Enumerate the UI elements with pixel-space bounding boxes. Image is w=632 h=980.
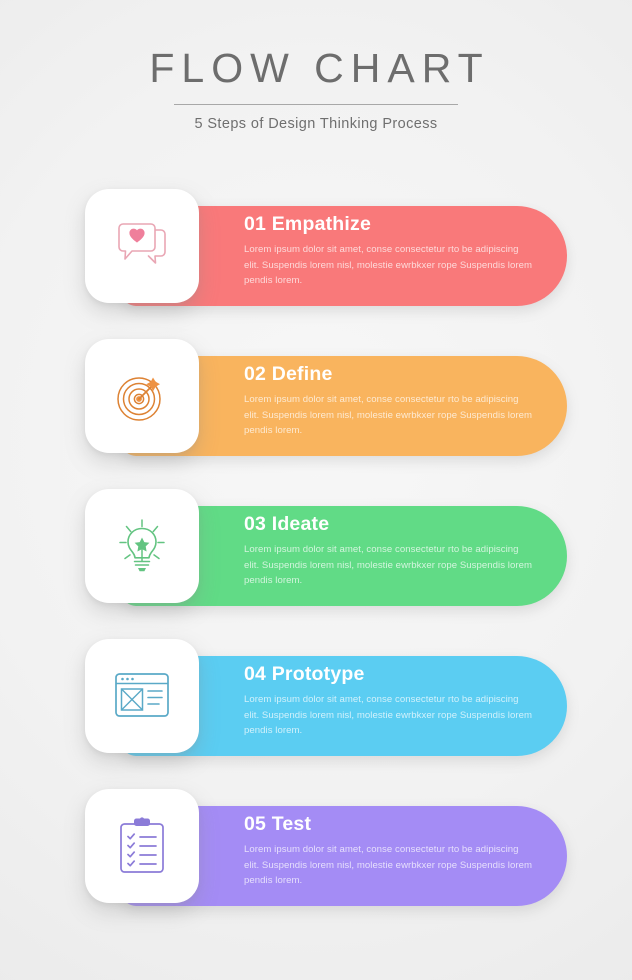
infographic-page: FLOW CHART 5 Steps of Design Thinking Pr…: [0, 0, 632, 980]
step-icon-card-prototype[interactable]: [85, 639, 199, 753]
steps-list: 01 Empathize Lorem ipsum dolor sit amet,…: [0, 0, 632, 980]
step-title: 03 Ideate: [244, 514, 534, 535]
step-row-empathize[interactable]: 01 Empathize Lorem ipsum dolor sit amet,…: [0, 181, 632, 331]
step-row-define[interactable]: 02 Define Lorem ipsum dolor sit amet, co…: [0, 331, 632, 481]
step-title: 02 Define: [244, 364, 534, 385]
step-text-prototype: 04 Prototype Lorem ipsum dolor sit amet,…: [244, 664, 534, 738]
step-description: Lorem ipsum dolor sit amet, conse consec…: [244, 392, 534, 437]
step-row-prototype[interactable]: 04 Prototype Lorem ipsum dolor sit amet,…: [0, 631, 632, 781]
step-icon-card-define[interactable]: [85, 339, 199, 453]
step-icon-card-ideate[interactable]: [85, 489, 199, 603]
step-description: Lorem ipsum dolor sit amet, conse consec…: [244, 542, 534, 587]
step-title: 04 Prototype: [244, 664, 534, 685]
target-dart-icon: [114, 368, 170, 424]
step-row-ideate[interactable]: 03 Ideate Lorem ipsum dolor sit amet, co…: [0, 481, 632, 631]
step-text-empathize: 01 Empathize Lorem ipsum dolor sit amet,…: [244, 214, 534, 288]
step-icon-card-empathize[interactable]: [85, 189, 199, 303]
step-icon-card-test[interactable]: [85, 789, 199, 903]
step-text-test: 05 Test Lorem ipsum dolor sit amet, cons…: [244, 814, 534, 888]
step-text-define: 02 Define Lorem ipsum dolor sit amet, co…: [244, 364, 534, 438]
step-description: Lorem ipsum dolor sit amet, conse consec…: [244, 692, 534, 737]
speech-bubbles-heart-icon: [113, 221, 171, 271]
clipboard-checklist-icon: [117, 817, 167, 875]
lightbulb-star-icon: [113, 517, 171, 575]
step-description: Lorem ipsum dolor sit amet, conse consec…: [244, 842, 534, 887]
step-description: Lorem ipsum dolor sit amet, conse consec…: [244, 242, 534, 287]
step-row-test[interactable]: 05 Test Lorem ipsum dolor sit amet, cons…: [0, 781, 632, 931]
step-title: 05 Test: [244, 814, 534, 835]
step-text-ideate: 03 Ideate Lorem ipsum dolor sit amet, co…: [244, 514, 534, 588]
wireframe-window-icon: [113, 671, 171, 721]
step-title: 01 Empathize: [244, 214, 534, 235]
